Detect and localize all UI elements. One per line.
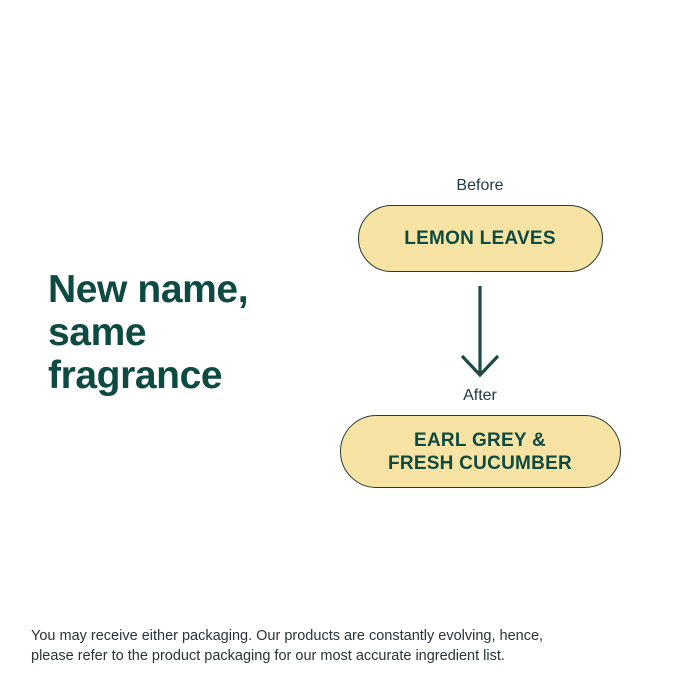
after-label: After	[463, 386, 497, 406]
disclaimer-text: You may receive either packaging. Our pr…	[31, 626, 631, 666]
before-after-flow: Before LEMON LEAVES After EARL GREY & FR…	[330, 176, 630, 488]
headline: New name, same fragrance	[48, 268, 318, 397]
after-product-badge: EARL GREY & FRESH CUCUMBER	[340, 415, 621, 488]
product-rename-graphic: New name, same fragrance Before LEMON LE…	[0, 0, 679, 679]
before-product-badge: LEMON LEAVES	[358, 205, 603, 272]
before-label: Before	[456, 176, 503, 196]
arrow-down-icon	[458, 286, 502, 378]
